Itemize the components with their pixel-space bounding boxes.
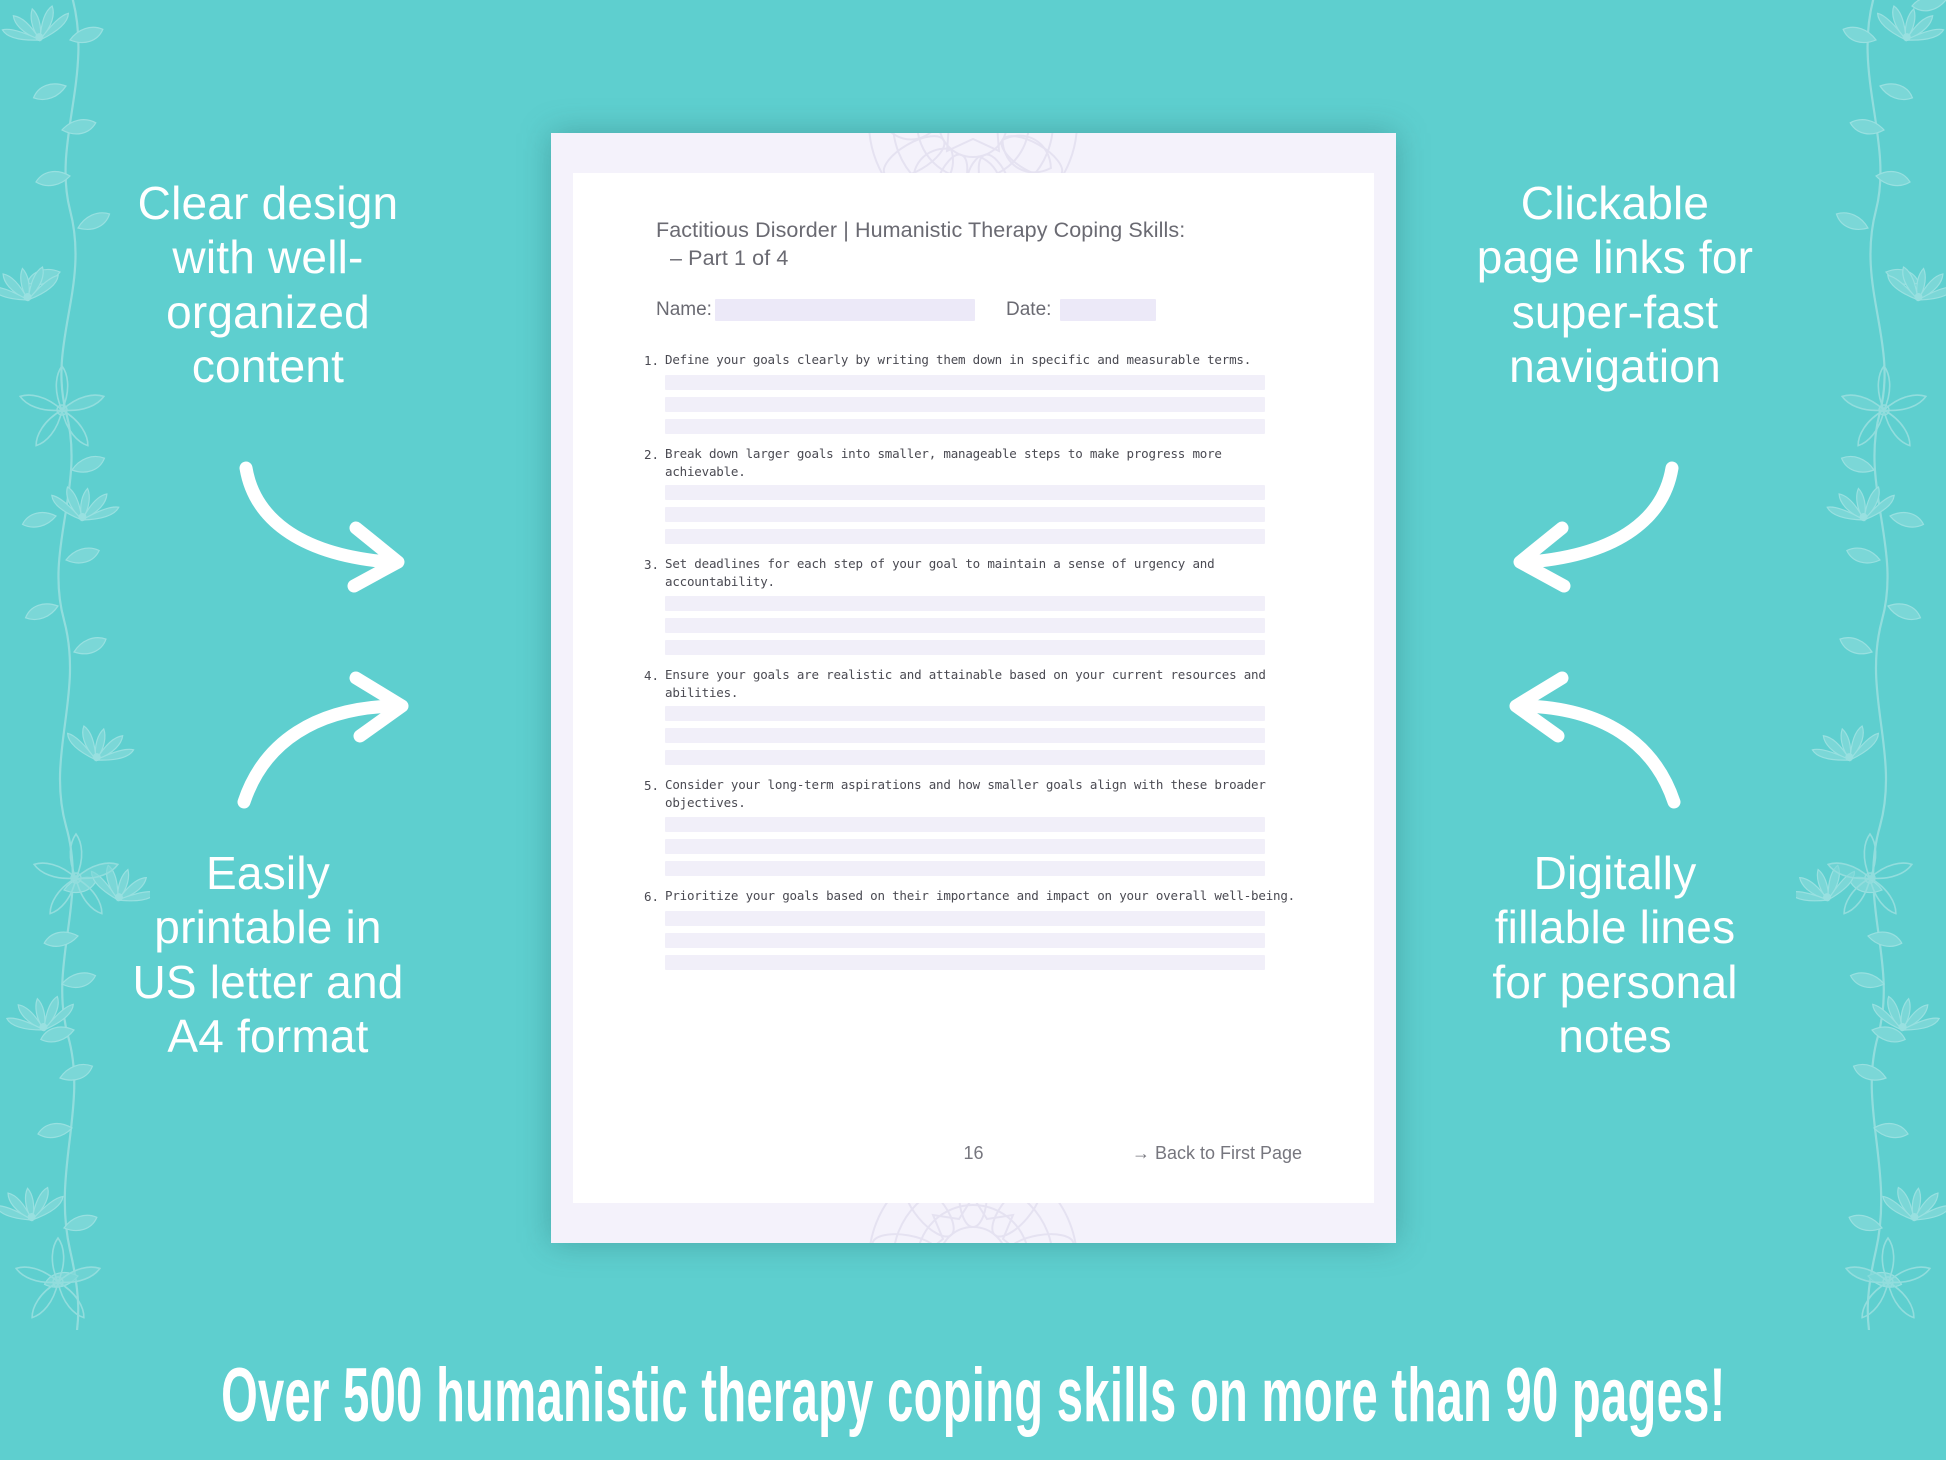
prompt-item: 1.Define your goals clearly by writing t…	[639, 351, 1339, 434]
answer-line[interactable]	[665, 507, 1265, 522]
answer-line[interactable]	[665, 485, 1265, 500]
prompt-item-head: 3.Set deadlines for each step of your go…	[639, 555, 1339, 591]
name-input[interactable]	[715, 299, 975, 321]
answer-line[interactable]	[665, 529, 1265, 544]
date-input[interactable]	[1060, 299, 1156, 321]
prompt-item-text: Set deadlines for each step of your goal…	[665, 555, 1305, 591]
arrow-top-right-icon	[1480, 462, 1680, 582]
date-label: Date:	[1006, 299, 1051, 321]
prompt-item: 2.Break down larger goals into smaller, …	[639, 445, 1339, 545]
prompt-item-number: 6.	[639, 887, 659, 906]
arrow-top-left-icon	[238, 462, 438, 582]
name-label: Name:	[656, 299, 712, 321]
answer-line[interactable]	[665, 955, 1265, 970]
prompt-item-head: 4.Ensure your goals are realistic and at…	[639, 666, 1339, 702]
prompt-list: 1.Define your goals clearly by writing t…	[639, 351, 1339, 981]
answer-line[interactable]	[665, 640, 1265, 655]
page-footer: 16 → Back to First Page	[573, 1143, 1374, 1167]
prompt-item-text: Prioritize your goals based on their imp…	[665, 887, 1295, 905]
answer-line[interactable]	[665, 933, 1265, 948]
prompt-item-text: Consider your long-term aspirations and …	[665, 776, 1305, 812]
worksheet-title-part: – Part 1 of 4	[656, 244, 1296, 272]
worksheet-page: Factitious Disorder | Humanistic Therapy…	[573, 173, 1374, 1203]
prompt-item-number: 3.	[639, 555, 659, 574]
prompt-item: 3.Set deadlines for each step of your go…	[639, 555, 1339, 655]
answer-lines	[665, 375, 1339, 434]
answer-line[interactable]	[665, 839, 1265, 854]
answer-line[interactable]	[665, 861, 1265, 876]
worksheet-title: Factitious Disorder | Humanistic Therapy…	[656, 216, 1296, 273]
poster-canvas: Clear design with well- organized conten…	[0, 0, 1946, 1460]
arrow-bottom-left-icon	[238, 692, 438, 812]
answer-line[interactable]	[665, 419, 1265, 434]
worksheet-title-main: Factitious Disorder | Humanistic Therapy…	[656, 218, 1185, 242]
banner-headline: Over 500 humanistic therapy coping skill…	[221, 1352, 1726, 1439]
prompt-item-text: Define your goals clearly by writing the…	[665, 351, 1251, 369]
name-date-row: Name: Date:	[656, 299, 1316, 323]
prompt-item: 6.Prioritize your goals based on their i…	[639, 887, 1339, 970]
answer-lines	[665, 817, 1339, 876]
prompt-item-head: 1.Define your goals clearly by writing t…	[639, 351, 1339, 370]
prompt-item: 5.Consider your long-term aspirations an…	[639, 776, 1339, 876]
prompt-item-head: 5.Consider your long-term aspirations an…	[639, 776, 1339, 812]
prompt-item-number: 2.	[639, 445, 659, 464]
worksheet-document: Factitious Disorder | Humanistic Therapy…	[551, 133, 1396, 1243]
prompt-item-head: 2.Break down larger goals into smaller, …	[639, 445, 1339, 481]
answer-line[interactable]	[665, 397, 1265, 412]
answer-lines	[665, 485, 1339, 544]
prompt-item-head: 6.Prioritize your goals based on their i…	[639, 887, 1339, 906]
bottom-banner: Over 500 humanistic therapy coping skill…	[0, 1330, 1946, 1460]
promo-clickable-links: Clickable page links for super-fast navi…	[1455, 176, 1775, 393]
arrow-bottom-right-icon	[1480, 692, 1680, 812]
answer-line[interactable]	[665, 911, 1265, 926]
answer-line[interactable]	[665, 596, 1265, 611]
promo-fillable-lines: Digitally fillable lines for personal no…	[1455, 846, 1775, 1063]
prompt-item-text: Ensure your goals are realistic and atta…	[665, 666, 1305, 702]
answer-line[interactable]	[665, 728, 1265, 743]
prompt-item: 4.Ensure your goals are realistic and at…	[639, 666, 1339, 766]
answer-line[interactable]	[665, 750, 1265, 765]
prompt-item-text: Break down larger goals into smaller, ma…	[665, 445, 1305, 481]
prompt-item-number: 4.	[639, 666, 659, 685]
answer-lines	[665, 911, 1339, 970]
prompt-item-number: 5.	[639, 776, 659, 795]
answer-line[interactable]	[665, 618, 1265, 633]
back-to-first-page-link[interactable]: → Back to First Page	[1132, 1143, 1302, 1164]
prompt-item-number: 1.	[639, 351, 659, 370]
answer-lines	[665, 596, 1339, 655]
answer-lines	[665, 706, 1339, 765]
floral-border-right	[1796, 0, 1946, 1330]
answer-line[interactable]	[665, 375, 1265, 390]
answer-line[interactable]	[665, 817, 1265, 832]
page-number: 16	[963, 1143, 983, 1164]
promo-printable: Easily printable in US letter and A4 for…	[118, 846, 418, 1063]
answer-line[interactable]	[665, 706, 1265, 721]
promo-clear-design: Clear design with well- organized conten…	[118, 176, 418, 393]
